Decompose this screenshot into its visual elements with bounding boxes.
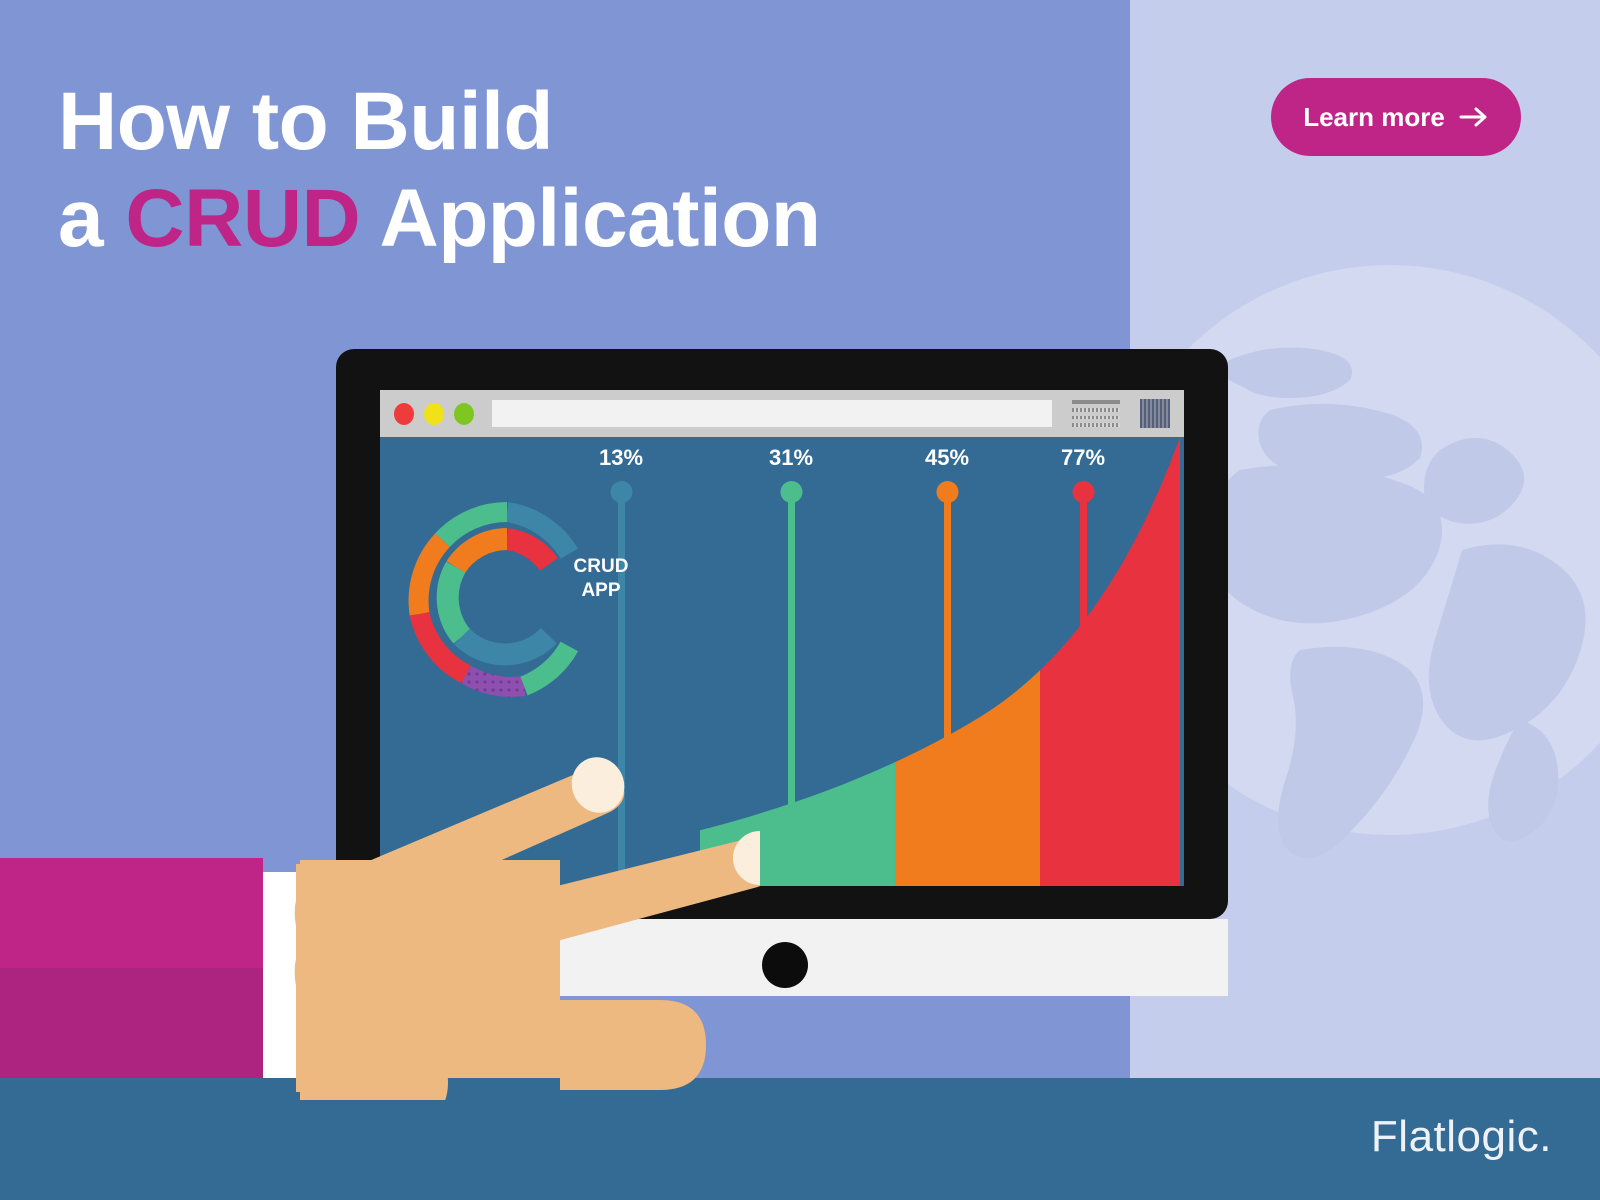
- hand-lower-finger: [560, 1000, 740, 1090]
- address-input[interactable]: [492, 400, 1052, 427]
- marker-77-knob: [1072, 481, 1094, 503]
- marker-45-knob: [936, 481, 958, 503]
- marker-45-stem: [944, 492, 951, 886]
- learn-more-label: Learn more: [1303, 102, 1445, 133]
- browser-chrome-bar: [380, 390, 1184, 437]
- flatlogic-logo: Flatlogic.: [1371, 1112, 1552, 1162]
- marker-31-stem: [788, 492, 795, 886]
- marker-45-label: 45%: [925, 445, 969, 471]
- page-title: How to Build a CRUD Application: [58, 74, 1078, 268]
- banner-canvas: How to Build a CRUD Application Learn mo…: [0, 0, 1600, 1200]
- headline-line-1: How to Build: [58, 74, 1078, 171]
- learn-more-button[interactable]: Learn more: [1271, 78, 1521, 156]
- headline-prefix: a: [58, 173, 125, 264]
- list-lines-icon[interactable]: [1072, 400, 1120, 427]
- monitor-power-button[interactable]: [762, 942, 808, 988]
- marker-31[interactable]: 31%: [788, 437, 795, 886]
- donut-label-line-1: CRUD: [546, 555, 656, 579]
- marker-13-knob: [610, 481, 632, 503]
- donut-center-label: CRUD APP: [546, 555, 656, 603]
- maximize-dot-green-icon[interactable]: [454, 403, 474, 425]
- grid-squares-icon[interactable]: [1140, 399, 1170, 428]
- headline-accent-crud: CRUD: [125, 173, 360, 264]
- donut-label-line-2: APP: [546, 579, 656, 603]
- marker-31-label: 31%: [769, 445, 813, 471]
- headline-suffix: Application: [360, 173, 820, 264]
- headline-line-2: a CRUD Application: [58, 171, 1078, 268]
- marker-77-stem: [1080, 492, 1087, 886]
- marker-77-label: 77%: [1061, 445, 1105, 471]
- marker-77[interactable]: 77%: [1080, 437, 1087, 886]
- close-dot-red-icon[interactable]: [394, 403, 414, 425]
- marker-13-label: 13%: [599, 445, 643, 471]
- arrow-right-icon: [1459, 104, 1489, 130]
- minimize-dot-yellow-icon[interactable]: [424, 403, 444, 425]
- marker-31-knob: [780, 481, 802, 503]
- marker-45[interactable]: 45%: [944, 437, 951, 886]
